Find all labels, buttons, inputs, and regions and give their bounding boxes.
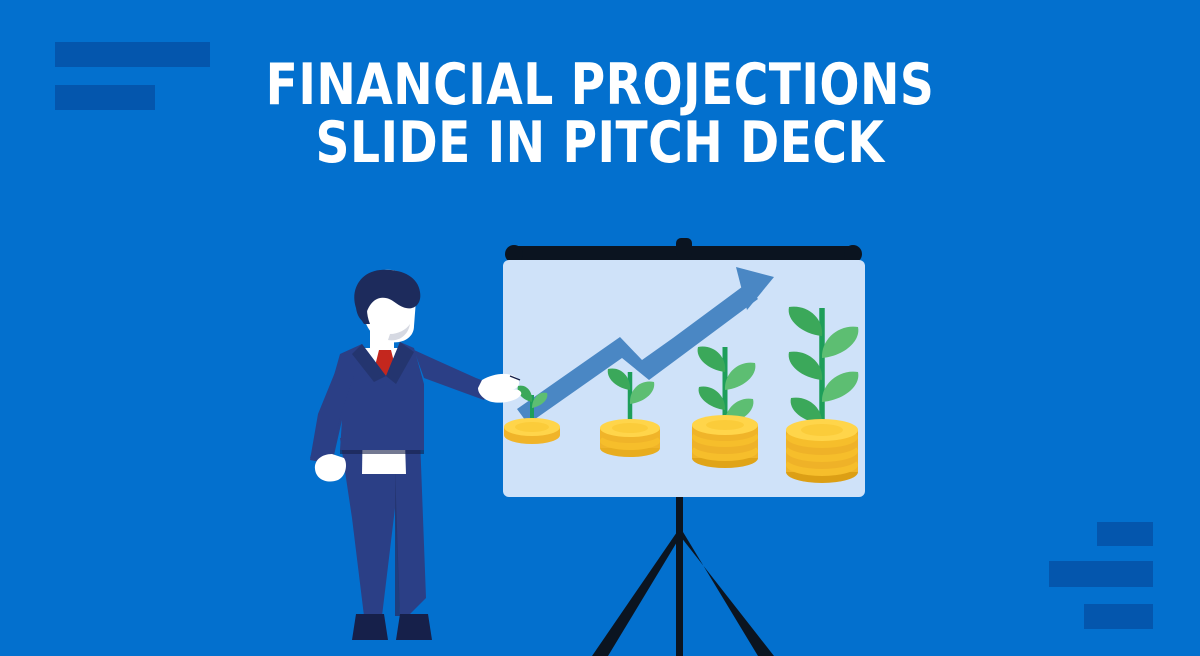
deco-bar-bottom-right-2 (1049, 561, 1153, 587)
presentation-board (470, 232, 900, 656)
businessman-presenter (296, 268, 526, 656)
page-title-line-1: Financial Projections (48, 56, 1152, 114)
board-frame-top (505, 238, 862, 263)
deco-bar-bottom-right-1 (1097, 522, 1153, 546)
head (354, 270, 420, 343)
page-title: Financial Projections Slide in Pitch Dec… (48, 56, 1152, 172)
tripod-stand (581, 487, 779, 656)
deco-bar-bottom-right-3 (1084, 604, 1153, 629)
page-title-line-2: Slide in Pitch Deck (48, 114, 1152, 172)
coin-stack-2 (600, 419, 660, 457)
coin-stack-3 (692, 415, 758, 468)
shoes (352, 614, 432, 640)
slide-canvas: Financial Projections Slide in Pitch Dec… (0, 0, 1200, 656)
right-arm (414, 350, 521, 403)
coin-stack-4 (786, 419, 858, 483)
